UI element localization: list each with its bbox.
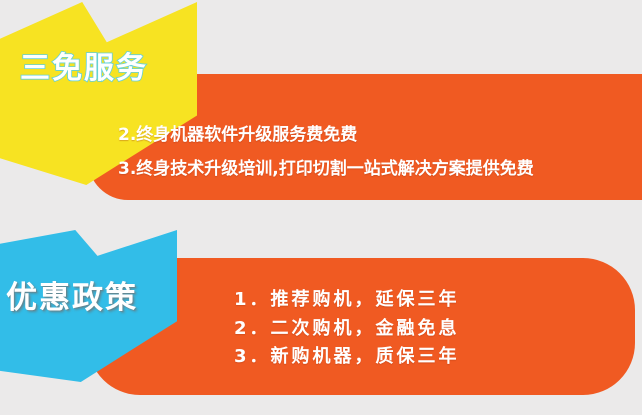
list-item: 1．推荐购机，延保三年 — [234, 286, 460, 315]
list-item: 3．新购机器，质保三年 — [234, 343, 460, 372]
list-item: 3.终身技术升级培训,打印切割一站式解决方案提供免费 — [118, 152, 534, 186]
three-free-service-list: 2.终身机器软件升级服务费免费 3.终身技术升级培训,打印切割一站式解决方案提供… — [118, 118, 534, 186]
promo-poster: 三免服务 2.终身机器软件升级服务费免费 3.终身技术升级培训,打印切割一站式解… — [0, 0, 642, 415]
preferential-policy-title: 优惠政策 — [6, 272, 138, 317]
list-item: 2.终身机器软件升级服务费免费 — [118, 118, 534, 152]
three-free-service-title: 三免服务 — [20, 43, 148, 87]
preferential-policy-list: 1．推荐购机，延保三年 2．二次购机，金融免息 3．新购机器，质保三年 — [234, 286, 460, 372]
list-item: 2．二次购机，金融免息 — [234, 315, 460, 344]
